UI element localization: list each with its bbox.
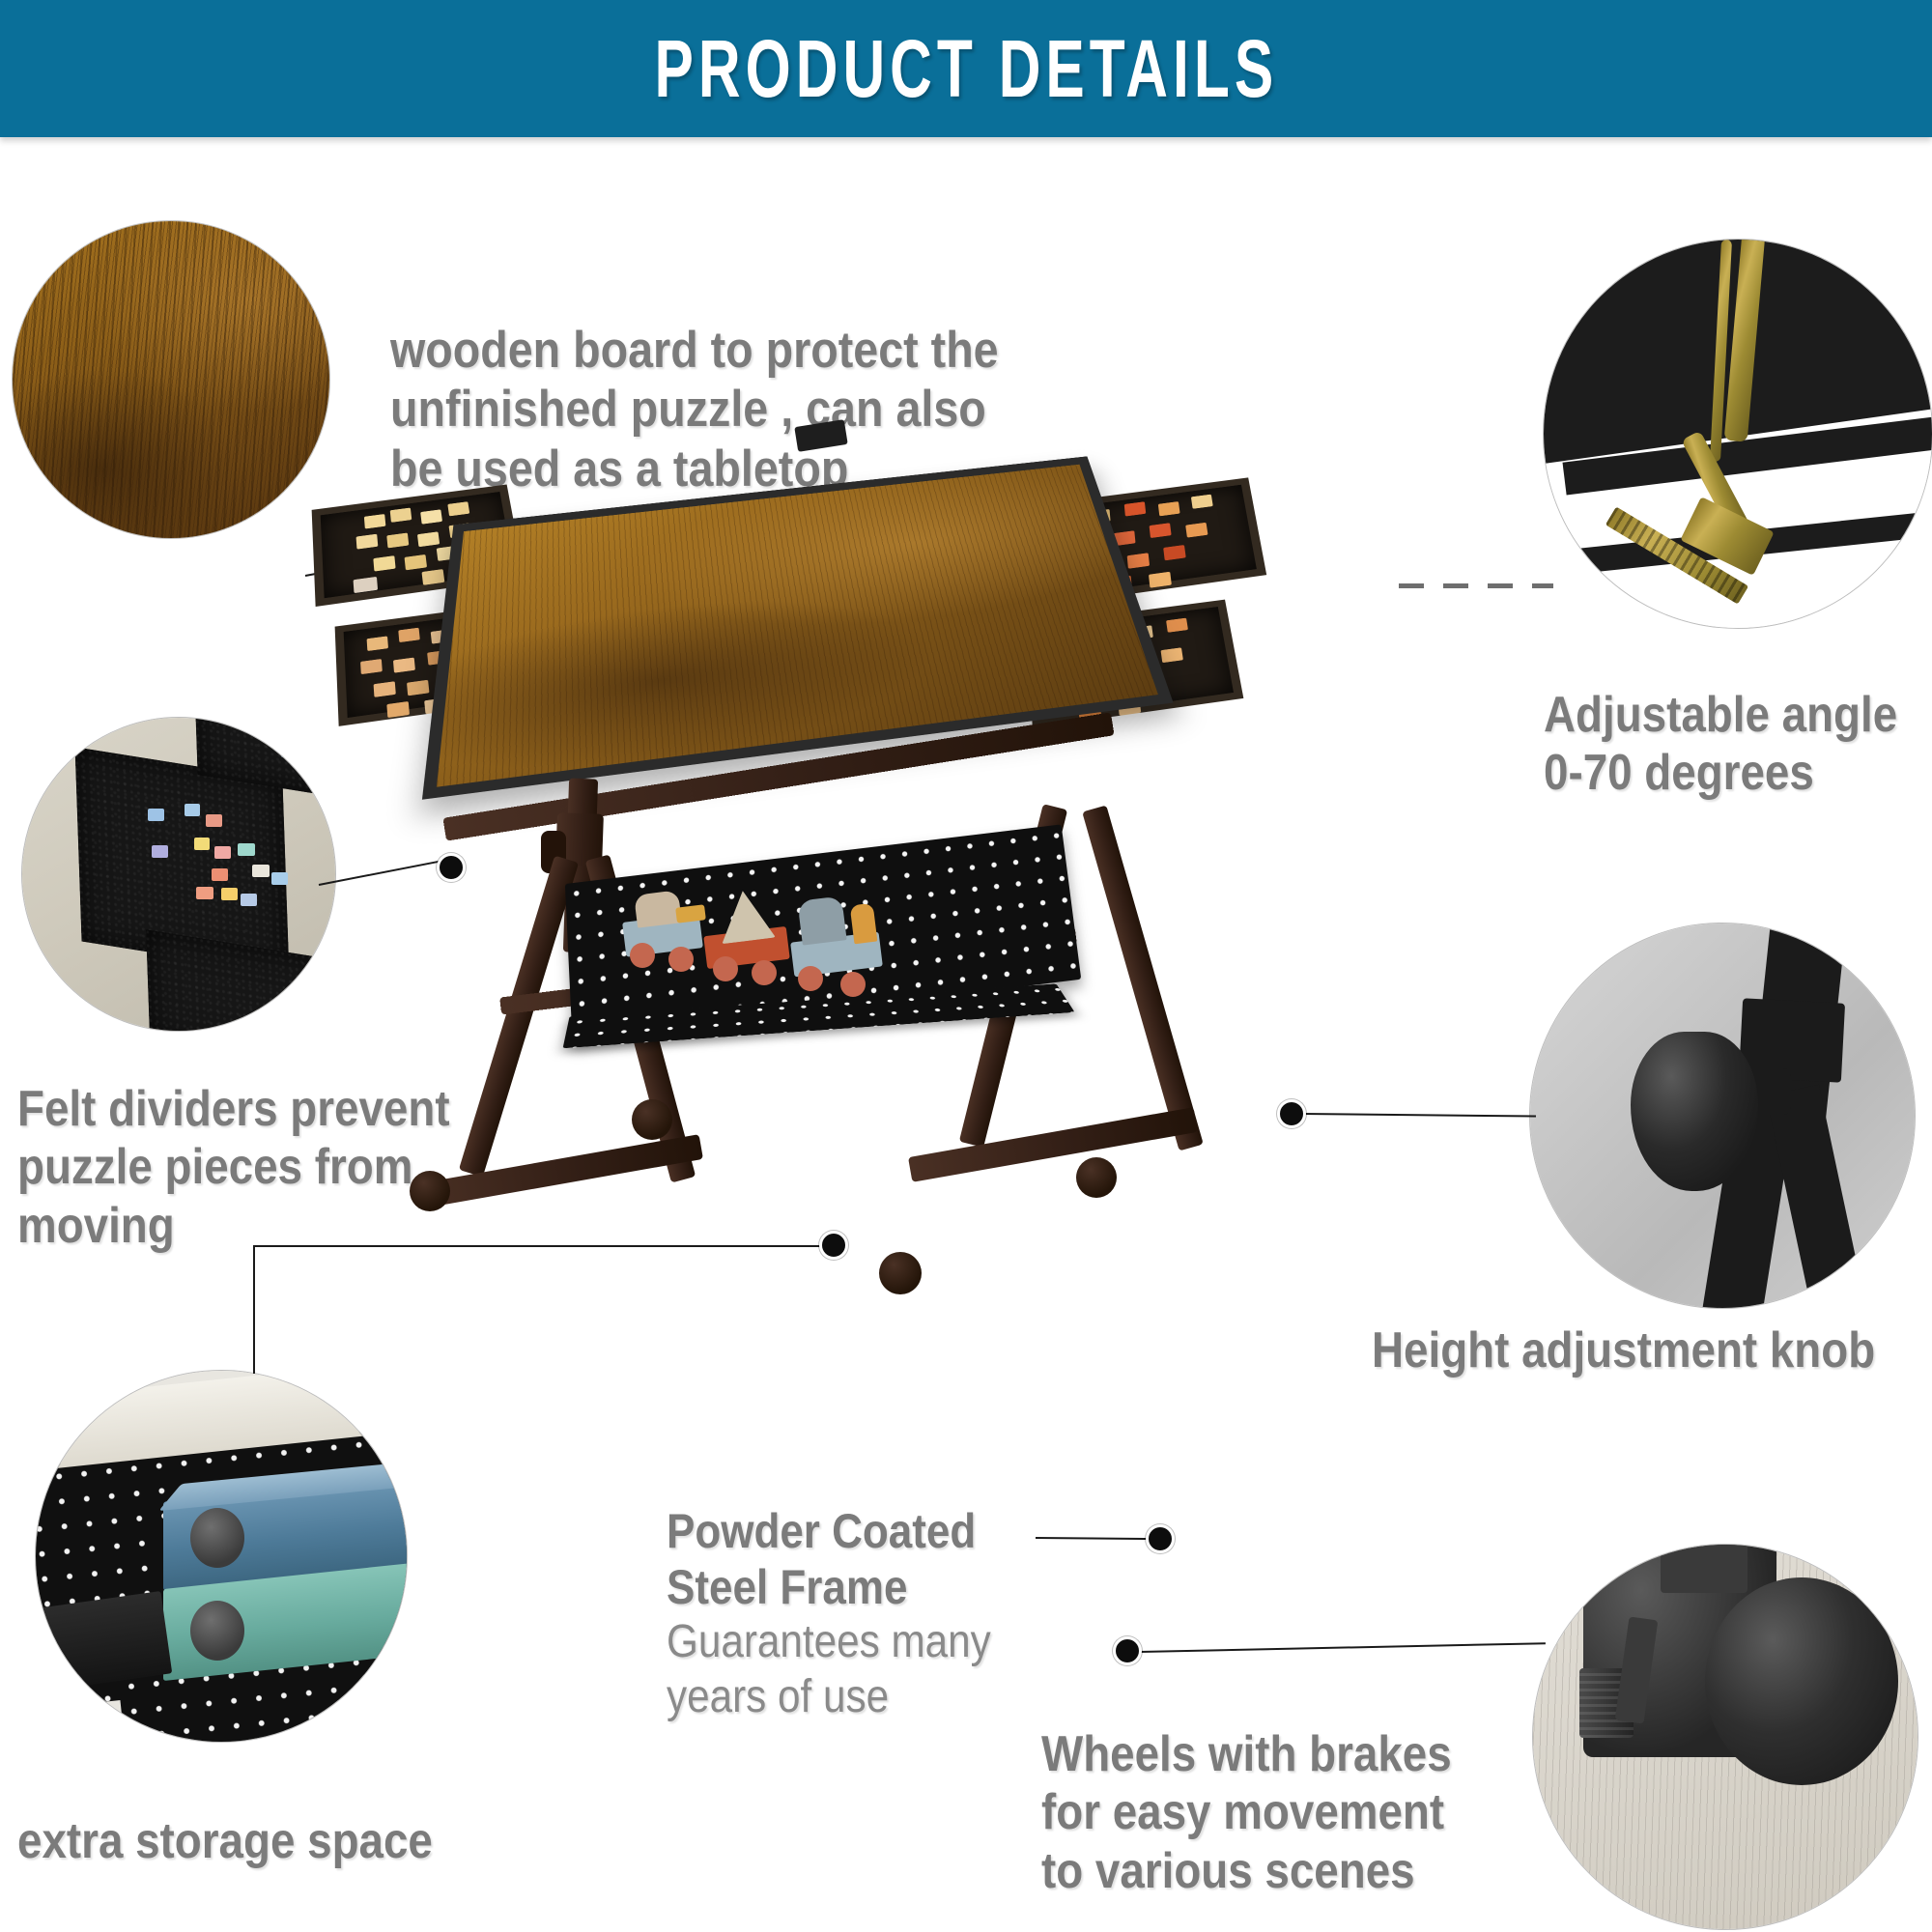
callout-dot-wheels-brakes [1113,1636,1142,1665]
puzzle-piece [221,888,238,900]
puzzle-piece [148,809,164,821]
caster-stem [1661,1544,1747,1593]
toy-wheel [752,960,777,985]
page-title: PRODUCT DETAILS [654,22,1278,116]
product-details-page: PRODUCT DETAILS wooden board to protect … [0,0,1932,1932]
puzzle-piece [310,1004,327,1016]
storage-box-knob-upper [190,1508,244,1568]
rustic-wood-tabletop [422,456,1174,799]
callout-steel-frame-title: Powder Coated Steel Frame [667,1503,1066,1615]
caster-wheel [1705,1577,1898,1785]
toy-train-cab-3 [797,895,846,945]
toy-wheel [840,972,866,997]
wood-texture [13,221,329,538]
product-illustration [386,415,1372,1439]
puzzle-piece [214,846,231,859]
toy-wheel [668,947,694,972]
connector-extra-storage-vertical [253,1246,255,1374]
leg-right-rear [1082,805,1204,1151]
puzzle-piece [271,872,288,885]
tabletop-hinge-tab [794,419,847,452]
puzzle-piece [238,843,255,856]
callout-dot-steel-frame [1146,1524,1175,1553]
wood-grain-circle-image [12,220,330,539]
caster-wheel-front-left [410,1171,450,1211]
toy-train-chimney-3 [850,903,878,945]
puzzle-piece [281,745,298,757]
toy-wheel [713,956,738,981]
puzzle-piece [152,845,168,858]
puzzle-piece [252,865,270,877]
caster-wheel-front-right [879,1252,922,1294]
connector-wheels-brakes [1140,1642,1546,1653]
toy-wheel [630,943,655,968]
callout-steel-frame-subtitle: Guarantees many years of use [667,1615,1066,1724]
puzzle-piece [241,894,257,906]
callout-wheels-brakes-title: Wheels with brakes for easy movement to … [1041,1725,1551,1900]
caster-wheel-rear-left [632,1099,672,1140]
leg-left-front [459,856,579,1178]
puzzle-piece [206,814,222,827]
angle-ratchet-circle-image [1543,239,1932,629]
header-banner: PRODUCT DETAILS [0,0,1932,137]
puzzle-piece [194,838,210,850]
puzzle-piece [196,887,213,899]
adjustment-knob-circle-image [1529,923,1916,1309]
caster-wheel-circle-image [1532,1544,1918,1930]
storage-boxes-circle-image [35,1370,408,1743]
puzzle-piece [185,804,200,816]
callout-adjustable-angle-title: Adjustable angle 0-70 degrees [1544,686,1909,803]
toy-wheel [798,966,823,991]
knob-head [1631,1032,1758,1191]
caster-wheel-rear-right [1076,1157,1117,1198]
storage-box-knob-lower [190,1601,244,1661]
toy-train-sail-2 [716,888,776,944]
puzzle-piece [212,868,228,881]
foot-left [413,1134,703,1209]
puzzle-piece [312,774,328,786]
connector-adjustable-angle [1399,583,1553,588]
felt-drawer-circle-image [21,717,336,1032]
puzzle-piece [293,984,309,997]
callout-extra-storage-title: extra storage space [17,1812,494,1870]
callout-height-knob-title: Height adjustment knob [1372,1321,1882,1379]
foot-right [908,1107,1198,1182]
